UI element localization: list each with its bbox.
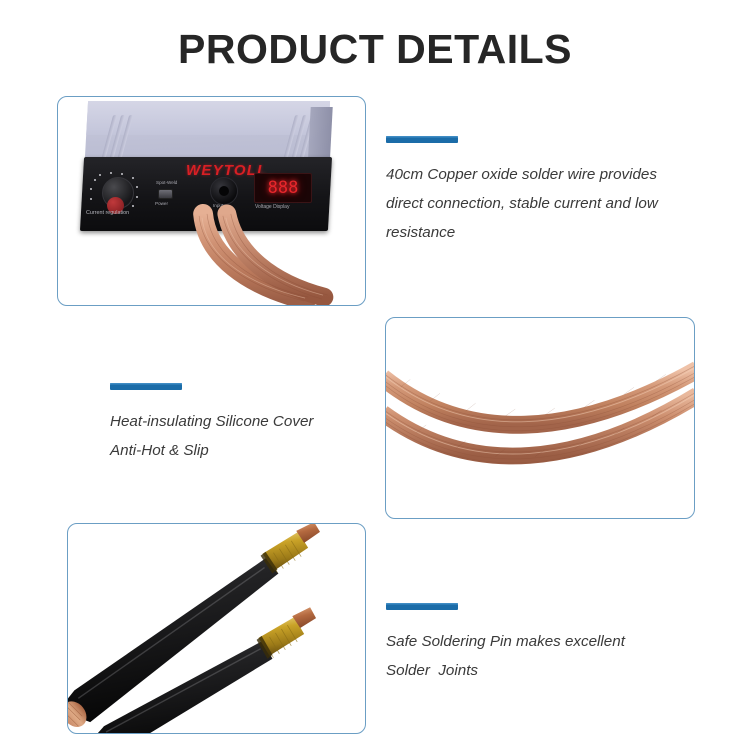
copper-wire-illustration: [386, 318, 694, 518]
caption-line: Safe Soldering Pin makes excellent: [386, 627, 696, 656]
device-illustration: WEYTOLL Cur: [58, 97, 365, 305]
feature-caption-silicone: Heat-insulating Silicone Cover Anti-Hot …: [110, 383, 410, 465]
caption-line: Heat-insulating Silicone Cover: [110, 407, 410, 436]
accent-bar: [110, 383, 182, 390]
photo-card-copper-wire: [385, 317, 695, 519]
product-details-page: PRODUCT DETAILS WEYTOLL: [0, 0, 750, 750]
device-copper-cables: [58, 97, 365, 305]
accent-bar: [386, 136, 458, 143]
caption-line: Anti-Hot & Slip: [110, 436, 410, 465]
caption-line: 40cm Copper oxide solder wire provides: [386, 160, 706, 189]
feature-caption-pin: Safe Soldering Pin makes excellent Solde…: [386, 603, 696, 685]
accent-bar: [386, 603, 458, 610]
photo-card-device: WEYTOLL Cur: [57, 96, 366, 306]
soldering-pin-illustration: [68, 524, 365, 733]
caption-line: direct connection, stable current and lo…: [386, 189, 706, 218]
feature-caption-wire: 40cm Copper oxide solder wire provides d…: [386, 136, 706, 247]
caption-line: resistance: [386, 218, 706, 247]
photo-card-soldering-pins: [67, 523, 366, 734]
page-title: PRODUCT DETAILS: [0, 26, 750, 73]
caption-line: Solder Joints: [386, 656, 696, 685]
